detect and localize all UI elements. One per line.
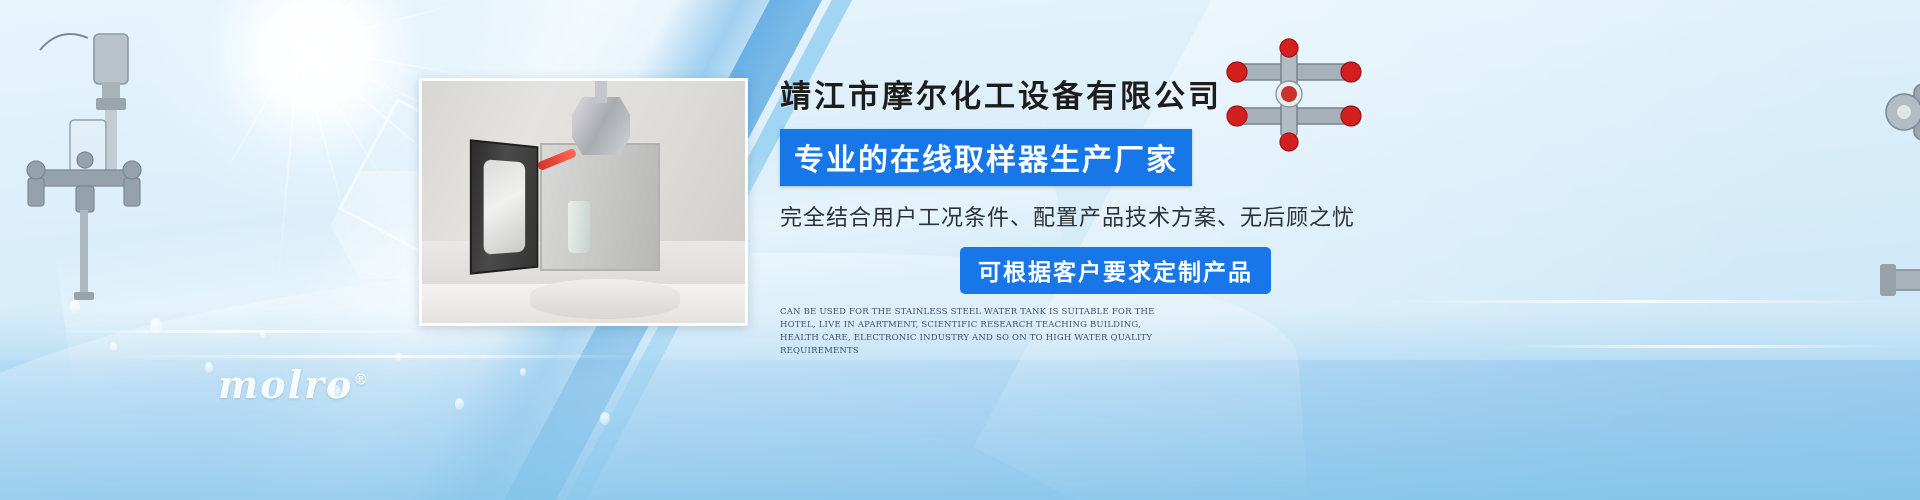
lever-valve-right-icon (1880, 30, 1920, 220)
promo-banner: 靖江市摩尔化工设备有限公司 专业的在线取样器生产厂家 完全结合用户工况条件、配置… (0, 0, 1920, 500)
water-droplet (520, 368, 526, 376)
photo-cabinet-door (470, 139, 539, 275)
light-streak (120, 355, 640, 358)
watermark-text: molro (218, 362, 353, 407)
product-photo (419, 78, 748, 326)
water-droplet (600, 412, 610, 425)
water-droplet (455, 398, 464, 410)
water-droplet (110, 342, 117, 351)
water-droplet (205, 362, 213, 373)
water-droplet (150, 318, 162, 333)
headline-tag: 专业的在线取样器生产厂家 (780, 129, 1192, 186)
photo-door-window (484, 159, 526, 254)
banner-text-block: 靖江市摩尔化工设备有限公司 专业的在线取样器生产厂家 完全结合用户工况条件、配置… (780, 78, 1460, 358)
secondary-tag: 可根据客户要求定制产品 (960, 247, 1271, 294)
water-droplet (395, 352, 402, 361)
inline-sampler-right-lower-icon (1880, 230, 1920, 395)
watermark-logo: molro® (218, 362, 370, 407)
light-streak (40, 330, 460, 333)
photo-pedestal (530, 279, 680, 319)
sampler-assembly-left-icon (10, 20, 170, 310)
photo-valve-head (572, 97, 630, 155)
photo-background (422, 81, 745, 323)
registered-mark-icon: ® (353, 370, 370, 388)
subheadline: 完全结合用户工况条件、配置产品技术方案、无后顾之忧 (780, 200, 1460, 232)
water-droplet (260, 330, 266, 338)
photo-valve-stem (595, 79, 607, 103)
company-name: 靖江市摩尔化工设备有限公司 (780, 78, 1460, 116)
photo-sample-bottle (568, 201, 590, 253)
light-streak (1500, 345, 1900, 348)
english-caption: CAN BE USED FOR THE STAINLESS STEEL WATE… (780, 306, 1180, 358)
